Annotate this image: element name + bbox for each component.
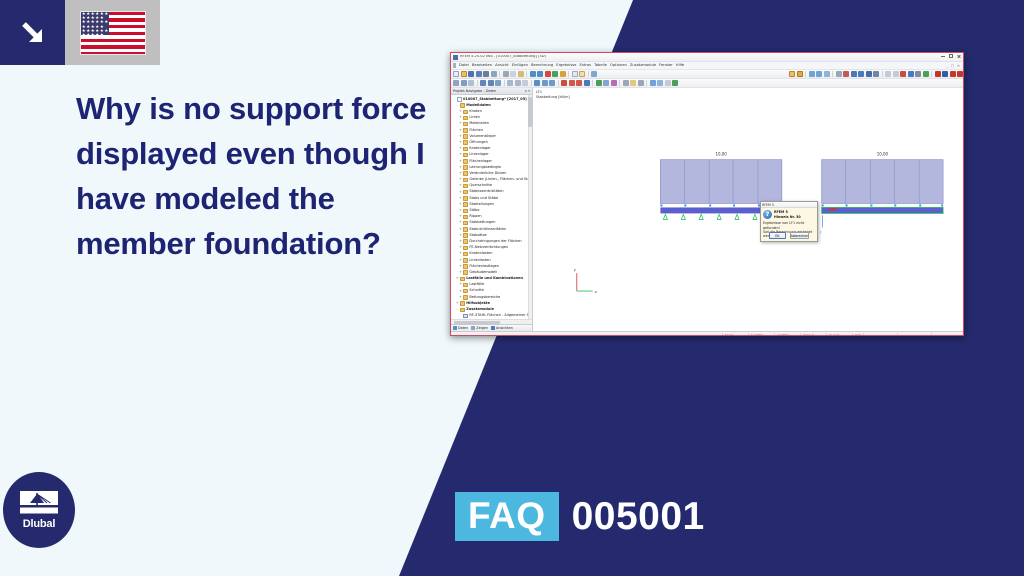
render-icon[interactable] xyxy=(560,71,566,77)
nodal-load-icon[interactable] xyxy=(569,80,575,86)
expand-icon[interactable]: + xyxy=(458,197,462,200)
menu-item-optionen[interactable]: Optionen xyxy=(610,64,627,68)
pointer-icon[interactable] xyxy=(453,80,459,86)
calculate-icon[interactable] xyxy=(545,71,551,77)
folder-icon xyxy=(460,103,465,108)
menu-item-einfuegen[interactable]: Einfügen xyxy=(512,64,528,68)
redo-icon[interactable] xyxy=(537,71,543,77)
save-all-icon[interactable] xyxy=(476,71,482,77)
tree-item-label: Leerungsbedingte xyxy=(469,166,501,170)
undo-icon[interactable] xyxy=(530,71,536,77)
expand-icon[interactable]: + xyxy=(458,221,462,224)
faq-number: 005001 xyxy=(572,497,705,536)
folder-icon xyxy=(463,190,468,195)
surface-load-icon[interactable] xyxy=(584,80,590,86)
pencil-icon[interactable] xyxy=(461,80,467,86)
expand-icon[interactable]: + xyxy=(458,215,462,218)
navigator-tab-zeigen[interactable]: Zeigen xyxy=(471,326,488,330)
dialog-heading: RFEM 5 Hinweis Nr. 30 xyxy=(774,210,801,219)
collapse-icon[interactable]: - xyxy=(455,104,459,107)
folder-icon xyxy=(463,221,468,226)
view-side-icon[interactable] xyxy=(851,71,857,77)
dialog-heading-line2: Hinweis Nr. 30 xyxy=(774,215,801,220)
window-controls[interactable] xyxy=(941,54,961,58)
expand-icon[interactable]: + xyxy=(458,153,462,156)
status-cell-blank1 xyxy=(863,333,897,337)
navigator-tabs[interactable]: Daten Zeigen Ansichten xyxy=(451,324,532,331)
polyline-icon[interactable] xyxy=(495,80,501,86)
tree-item-label: Öffnungen xyxy=(469,141,487,145)
navigator-tab-daten[interactable]: Daten xyxy=(453,326,468,330)
expand-icon[interactable]: + xyxy=(455,277,459,280)
collapse-icon[interactable]: - xyxy=(455,308,459,311)
folder-icon xyxy=(460,308,465,313)
loadcase-icon[interactable] xyxy=(561,80,567,86)
module-a-icon[interactable] xyxy=(935,71,941,77)
arrow-badge xyxy=(0,0,65,65)
status-bar[interactable]: FANG RASTER KARTES OFANG GLINIE OFF xyxy=(451,331,963,336)
tree-item-label: RF-STAHL Flächen - Allgemeiner Spa xyxy=(469,314,532,318)
status-cell-raster[interactable]: RASTER xyxy=(748,333,774,337)
expand-icon[interactable]: + xyxy=(458,252,462,255)
svg-text:x: x xyxy=(595,290,597,294)
hscrollbar-thumb[interactable] xyxy=(454,321,500,325)
tree-item-label: Lastfälle xyxy=(469,283,484,287)
layer-icon[interactable] xyxy=(638,80,644,86)
navigator-tree[interactable]: -010007_Stabbettung* [2017_05]-Modelldat… xyxy=(451,95,532,319)
svg-text:z: z xyxy=(820,230,822,234)
menu-item-fenster[interactable]: Fenster xyxy=(659,64,673,68)
tree-item-label: Veränderliche Dicken xyxy=(469,172,506,176)
expand-icon[interactable]: + xyxy=(455,302,459,305)
minimize-button[interactable] xyxy=(941,54,945,58)
views-icon xyxy=(491,326,495,330)
scrollbar-thumb[interactable] xyxy=(528,97,532,127)
expand-icon[interactable]: + xyxy=(458,147,462,150)
menu-item-ansicht[interactable]: Ansicht xyxy=(495,64,509,68)
tree-item-label: Lastfälle und Kombinationen xyxy=(466,277,523,281)
drawing-canvas[interactable]: LF1 Stabbettung [kN/m] 10,00 xyxy=(533,88,963,331)
arc-icon[interactable] xyxy=(488,80,494,86)
tree-item-label: Stabexzentrizitäten xyxy=(469,190,503,194)
faq-label: FAQ xyxy=(455,492,559,541)
tree-item-label: Stabsätze xyxy=(469,234,486,238)
collapse-icon[interactable]: - xyxy=(452,98,456,101)
dialog-buttons[interactable]: OK Abbrechen xyxy=(761,232,817,239)
navigator-tab-label: Daten xyxy=(458,326,468,330)
navigator-header-icons[interactable]: × ▾ xyxy=(524,89,530,93)
navigator-horizontal-scrollbar[interactable] xyxy=(451,319,532,324)
tree-item-label: Stäbe xyxy=(469,209,479,213)
view-pan-icon[interactable] xyxy=(873,71,879,77)
expand-icon[interactable]: + xyxy=(458,129,462,132)
expand-icon[interactable]: + xyxy=(458,271,462,274)
mdi-window-controls[interactable]: _ □ ✕ xyxy=(946,64,961,68)
folder-icon xyxy=(463,258,468,263)
dlubal-logo: Dlubal xyxy=(3,472,75,548)
expand-icon[interactable]: + xyxy=(458,283,462,286)
menu-item-zusatzmodule[interactable]: Zusatzmodule xyxy=(630,64,656,68)
tree-item-label: 010007_Stabbettung* [2017_05] xyxy=(463,98,527,102)
navigator-tab-label: Zeigen xyxy=(476,326,488,330)
expand-icon[interactable]: + xyxy=(458,240,462,243)
tree-item-label: Materialien xyxy=(469,122,489,126)
line-load-icon[interactable] xyxy=(576,80,582,86)
ok-button[interactable]: OK xyxy=(769,232,786,239)
data-icon xyxy=(453,326,457,330)
hinge-icon[interactable] xyxy=(542,80,548,86)
document-icon xyxy=(457,97,462,102)
tree-item-label: FE-Netzverdichtungen xyxy=(469,246,508,250)
toolbar-drawing[interactable] xyxy=(451,79,963,88)
dimension-icon[interactable] xyxy=(623,80,629,86)
svg-text:10,00: 10,00 xyxy=(715,152,727,157)
new-icon[interactable] xyxy=(453,71,459,77)
menu-item-bearbeiten[interactable]: Bearbeiten xyxy=(472,64,492,68)
folder-icon xyxy=(463,264,468,269)
view-front-icon[interactable] xyxy=(836,71,842,77)
tree-item-label: Stabs und Stäbe xyxy=(469,197,498,201)
project-navigator[interactable]: Projekt-Navigator - Daten × ▾ -010007_St… xyxy=(451,88,533,331)
svg-text:10,00: 10,00 xyxy=(877,152,889,157)
arrow-down-right-icon xyxy=(16,16,50,50)
folder-icon xyxy=(463,140,468,145)
folder-icon xyxy=(463,165,468,170)
expand-icon[interactable]: + xyxy=(458,234,462,237)
expand-icon[interactable]: + xyxy=(458,184,462,187)
delete-icon[interactable] xyxy=(900,71,906,77)
expand-icon[interactable]: + xyxy=(458,191,462,194)
question-icon: ? xyxy=(763,210,772,219)
color-icon[interactable] xyxy=(672,80,678,86)
tree-item-label: Volumenkörper xyxy=(469,135,496,139)
folder-icon xyxy=(463,184,468,189)
dialog-message-line1: Ergebnisse von LF1 nicht gefunden! xyxy=(763,221,815,230)
us-flag-icon: ★★★★★★ ★★★★★ ★★★★★★ ★★★★★ ★★★★★★ ★★★★★ ★… xyxy=(80,11,146,55)
tree-item-label: Querschnitte xyxy=(469,184,492,188)
line-icon[interactable] xyxy=(480,80,486,86)
status-cell-glinie[interactable]: GLINIE xyxy=(826,333,852,337)
folder-icon xyxy=(463,227,468,232)
tree-item-label: Linienlager xyxy=(469,153,488,157)
tree-item-label: Knotenlasten xyxy=(469,252,492,256)
info-icon[interactable] xyxy=(591,71,597,77)
zoom-out-icon[interactable] xyxy=(816,71,822,77)
support-icon[interactable] xyxy=(534,80,540,86)
folder-icon xyxy=(463,295,468,300)
folder-icon xyxy=(463,252,468,257)
menu-item-tabelle[interactable]: Tabelle xyxy=(594,64,607,68)
status-cell-blank2 xyxy=(897,333,931,337)
expand-icon[interactable]: + xyxy=(458,203,462,206)
expand-icon[interactable]: + xyxy=(458,178,462,181)
language-flag-badge[interactable]: ★★★★★★ ★★★★★ ★★★★★★ ★★★★★ ★★★★★★ ★★★★★ ★… xyxy=(65,0,160,65)
navigator-header: Projekt-Navigator - Daten × ▾ xyxy=(451,88,532,95)
zoom-in-icon[interactable] xyxy=(809,71,815,77)
expand-icon[interactable]: + xyxy=(458,290,462,293)
printout-icon[interactable] xyxy=(579,71,585,77)
status-cell-off[interactable]: OFF xyxy=(852,333,863,337)
status-cell-ofang[interactable]: OFANG xyxy=(800,333,826,337)
menu-item-berechnung[interactable]: Berechnung xyxy=(531,64,553,68)
toolbar-standard[interactable] xyxy=(451,70,963,79)
message-dialog[interactable]: RFEM 5 ? RFEM 5 Hinweis Nr. 30 Ergebniss… xyxy=(760,201,818,242)
menu-grip[interactable] xyxy=(453,63,456,68)
menu-bar[interactable]: Datei Bearbeiten Ansicht Einfügen Berech… xyxy=(451,62,963,70)
close-button[interactable] xyxy=(957,54,961,58)
svg-text:y: y xyxy=(574,268,577,272)
slide-root: ★★★★★★ ★★★★★ ★★★★★★ ★★★★★ ★★★★★★ ★★★★★ ★… xyxy=(0,0,1024,576)
folder-icon xyxy=(463,134,468,139)
structural-model: 10,00 xyxy=(533,88,963,330)
view-iso-icon[interactable] xyxy=(858,71,864,77)
status-cell-fang[interactable]: FANG xyxy=(722,333,748,337)
cut-icon[interactable] xyxy=(503,71,509,77)
visibility-icon[interactable] xyxy=(650,80,656,86)
menu-item-hilfe[interactable]: Hilfe xyxy=(676,64,684,68)
flag-canton: ★★★★★★ ★★★★★ ★★★★★★ ★★★★★ ★★★★★★ ★★★★★ ★… xyxy=(81,12,109,36)
tree-item-label: Stabteilungen xyxy=(469,203,493,207)
copy-icon[interactable] xyxy=(510,71,516,77)
folder-icon xyxy=(463,116,468,121)
module-d-icon[interactable] xyxy=(957,71,963,77)
expand-icon[interactable]: + xyxy=(458,110,462,113)
expand-icon[interactable]: + xyxy=(458,172,462,175)
navigator-tab-label: Ansichten xyxy=(496,326,513,330)
tree-item-label: Stabnichtlinearitäten xyxy=(469,228,506,232)
tree-item-label: Modelldaten xyxy=(466,104,491,108)
tree-item-label: Knoten xyxy=(469,110,481,114)
expand-icon[interactable]: + xyxy=(458,246,462,249)
tree-item-label: Hilfsobjekte xyxy=(466,302,490,306)
application-body: Projekt-Navigator - Daten × ▾ -010007_St… xyxy=(451,88,963,331)
folder-icon xyxy=(463,270,468,275)
tree-item-label: Stabbettungen xyxy=(469,221,495,225)
dialog-header: ? RFEM 5 Hinweis Nr. 30 xyxy=(761,208,817,219)
comment-icon[interactable] xyxy=(630,80,636,86)
tree-item-label: Knotenlager xyxy=(469,147,490,151)
window-title-bar: RFEM 5.25.02 x64 - [010007_Stabbettung] … xyxy=(451,53,963,62)
expand-icon[interactable]: + xyxy=(458,296,462,299)
tree-item-label: Flächenlastlagen xyxy=(469,265,499,269)
paste-icon[interactable] xyxy=(518,71,524,77)
snap-icon[interactable] xyxy=(885,71,891,77)
check-icon[interactable] xyxy=(923,71,929,77)
tree-item-label: Durchdringungen der Flächen xyxy=(469,240,521,244)
properties-icon[interactable] xyxy=(915,71,921,77)
view-rotate-icon[interactable] xyxy=(866,71,872,77)
expand-icon[interactable]: + xyxy=(458,259,462,262)
view-top-icon[interactable] xyxy=(843,71,849,77)
edit-icon[interactable] xyxy=(908,71,914,77)
folder-icon xyxy=(463,178,468,183)
folder-icon xyxy=(463,159,468,164)
module-b-icon[interactable] xyxy=(942,71,948,77)
dialog-title-text: RFEM 5 xyxy=(762,203,774,207)
page-title: Why is no support force displayed even t… xyxy=(76,86,436,266)
module-c-icon[interactable] xyxy=(950,71,956,77)
navigator-tab-ansichten[interactable]: Ansichten xyxy=(491,326,513,330)
tree-item-label: Gebäudemodell xyxy=(469,271,497,275)
folder-icon xyxy=(463,215,468,220)
expand-icon[interactable]: + xyxy=(458,160,462,163)
tree-item-label: Linien xyxy=(469,116,480,120)
folder-icon xyxy=(463,209,468,214)
checkbox-icon xyxy=(463,314,468,319)
folder-icon xyxy=(463,233,468,238)
moment-icon[interactable] xyxy=(611,80,617,86)
right-beam-group: 10,00 z xyxy=(820,152,943,235)
surface-icon[interactable] xyxy=(507,80,513,86)
rfem-app-icon xyxy=(453,55,458,60)
folder-icon xyxy=(460,277,465,282)
zoom-window-icon[interactable] xyxy=(824,71,830,77)
menu-item-extras[interactable]: Extras xyxy=(579,64,591,68)
cancel-button[interactable]: Abbrechen xyxy=(790,232,810,239)
maximize-button[interactable] xyxy=(949,54,953,58)
folder-icon xyxy=(463,110,468,115)
open-icon[interactable] xyxy=(461,71,467,77)
table-icon[interactable] xyxy=(572,71,578,77)
tree-item-label: Flächenlager xyxy=(469,160,492,164)
expand-icon[interactable]: + xyxy=(458,209,462,212)
solid-icon[interactable] xyxy=(515,80,521,86)
menu-item-ergebnisse[interactable]: Ergebnisse xyxy=(556,64,576,68)
folder-icon xyxy=(460,301,465,306)
tree-item-label: Rippen xyxy=(469,215,481,219)
expand-icon[interactable]: + xyxy=(458,166,462,169)
node-icon[interactable] xyxy=(468,80,474,86)
folder-icon xyxy=(463,283,468,288)
dlubal-logo-text: Dlubal xyxy=(23,518,55,530)
folder-icon xyxy=(463,147,468,152)
menu-item-datei[interactable]: Datei xyxy=(459,64,469,68)
folder-icon xyxy=(463,202,468,207)
loadcase-select-icon[interactable] xyxy=(789,71,795,77)
expand-icon[interactable]: + xyxy=(458,122,462,125)
member-icon[interactable] xyxy=(549,80,555,86)
tree-item-label: Bettungsbereiche xyxy=(469,296,500,300)
grid-icon[interactable] xyxy=(893,71,899,77)
expand-icon[interactable]: + xyxy=(458,265,462,268)
save-icon[interactable] xyxy=(468,71,474,77)
folder-icon xyxy=(463,246,468,251)
display-icon xyxy=(471,326,475,330)
loadcase-dropdown-icon[interactable] xyxy=(797,71,803,77)
window-title-text: RFEM 5.25.02 x64 - [010007_Stabbettung] … xyxy=(460,55,546,59)
results-icon[interactable] xyxy=(552,71,558,77)
folder-icon xyxy=(463,196,468,201)
expand-icon[interactable]: + xyxy=(458,116,462,119)
mesh-icon[interactable] xyxy=(596,80,602,86)
group-icon[interactable] xyxy=(665,80,671,86)
folder-icon xyxy=(463,153,468,158)
clipping-icon[interactable] xyxy=(657,80,663,86)
navigator-title: Projekt-Navigator - Daten xyxy=(453,89,496,93)
expand-icon[interactable]: + xyxy=(458,141,462,144)
coordinate-axes: x y xyxy=(574,268,597,294)
tree-item-label: Linienlasten xyxy=(469,259,490,263)
folder-icon xyxy=(463,239,468,244)
deform-icon[interactable] xyxy=(603,80,609,86)
folder-icon xyxy=(463,128,468,133)
navigator-vertical-scrollbar[interactable] xyxy=(528,95,532,319)
tree-item-label: Zusatzmodule xyxy=(466,308,494,312)
faq-footer: FAQ 005001 xyxy=(455,492,705,541)
expand-icon[interactable]: + xyxy=(458,228,462,231)
tree-item-label: Schnitte xyxy=(469,289,483,293)
print-icon[interactable] xyxy=(483,71,489,77)
print-preview-icon[interactable] xyxy=(491,71,497,77)
folder-icon xyxy=(463,289,468,294)
tree-item-label: Gelenke (Linien-, Flächen- und Stabrahme… xyxy=(469,178,532,182)
folder-icon xyxy=(463,122,468,127)
dlubal-bridge-icon xyxy=(20,491,58,516)
expand-icon[interactable]: + xyxy=(458,135,462,138)
opening-icon[interactable] xyxy=(522,80,528,86)
tree-item-label: Flächen xyxy=(469,129,483,133)
status-cell-kartes[interactable]: KARTES xyxy=(774,333,800,337)
status-cell-blank3 xyxy=(931,333,961,337)
folder-icon xyxy=(463,171,468,176)
rfem-application-window: RFEM 5.25.02 x64 - [010007_Stabbettung] … xyxy=(450,52,964,336)
